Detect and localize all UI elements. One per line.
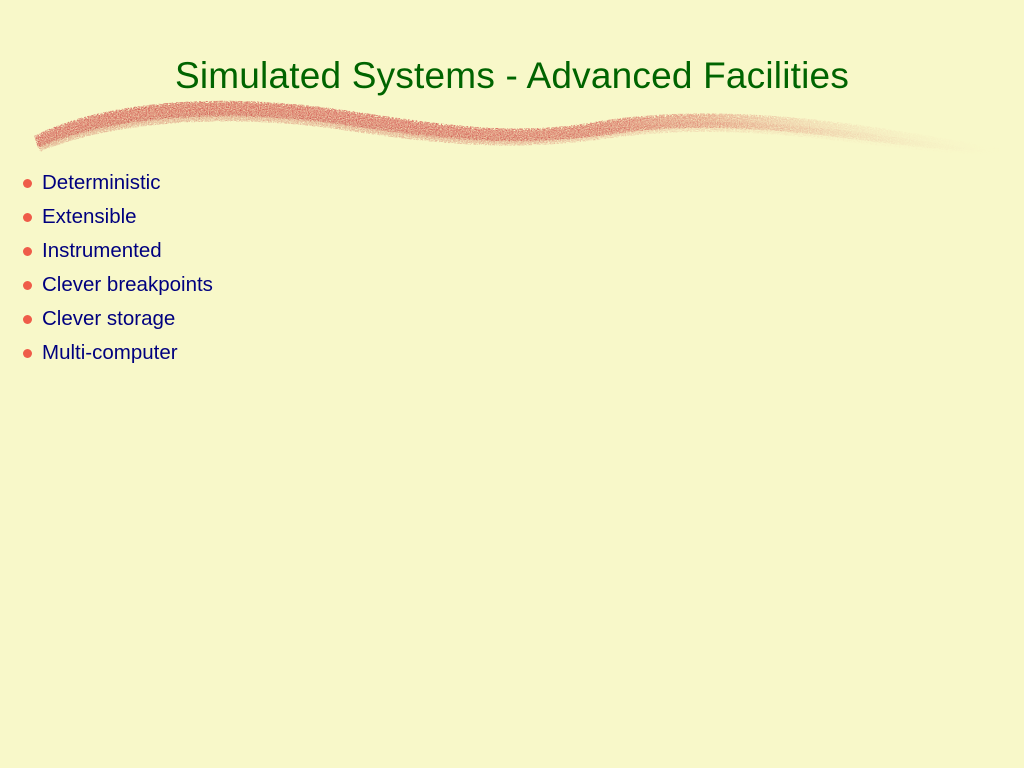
list-item: Multi-computer	[18, 336, 918, 370]
bullet-label: Clever breakpoints	[42, 268, 213, 302]
presentation-slide: Simulated Systems - Advanced Facilities	[0, 0, 1024, 768]
slide-title: Simulated Systems - Advanced Facilities	[0, 55, 1024, 97]
bullet-label: Clever storage	[42, 302, 175, 336]
bullet-marker-icon	[23, 247, 32, 256]
bullet-marker-icon	[23, 213, 32, 222]
list-item: Clever breakpoints	[18, 268, 918, 302]
list-item: Extensible	[18, 200, 918, 234]
list-item: Deterministic	[18, 166, 918, 200]
bullet-marker-icon	[23, 179, 32, 188]
bullet-list: Deterministic Extensible Instrumented Cl…	[18, 166, 918, 370]
bullet-marker-icon	[23, 281, 32, 290]
list-item: Clever storage	[18, 302, 918, 336]
bullet-label: Multi-computer	[42, 336, 178, 370]
bullet-label: Deterministic	[42, 166, 160, 200]
bullet-label: Instrumented	[42, 234, 162, 268]
bullet-marker-icon	[23, 349, 32, 358]
bullet-label: Extensible	[42, 200, 137, 234]
list-item: Instrumented	[18, 234, 918, 268]
bullet-marker-icon	[23, 315, 32, 324]
